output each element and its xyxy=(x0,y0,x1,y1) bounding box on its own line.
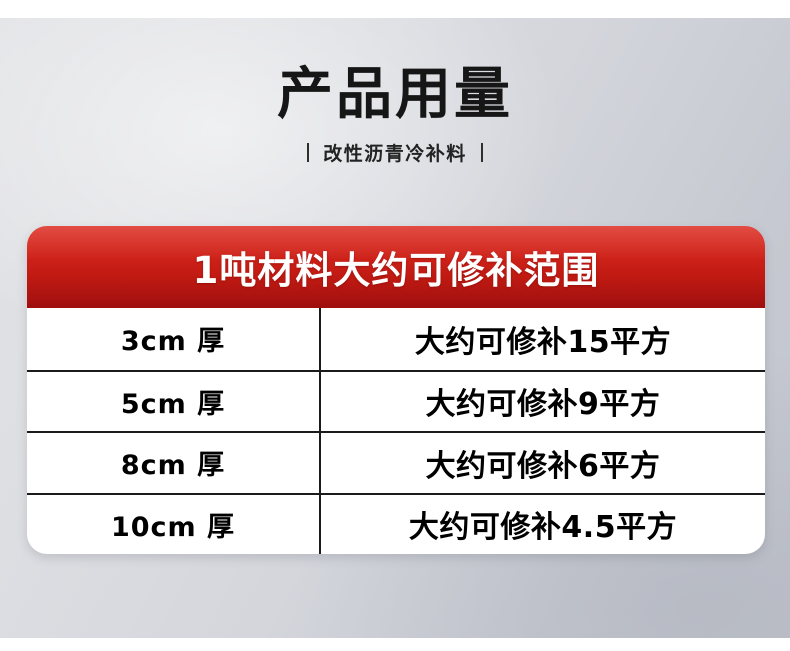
table-row: 10cm 厚 大约可修补4.5平方 xyxy=(27,493,765,555)
usage-banner: 1吨材料大约可修补范围 xyxy=(27,226,765,308)
page-title: 产品用量 xyxy=(0,66,790,125)
table-row: 5cm 厚 大约可修补9平方 xyxy=(27,370,765,432)
cell-thickness: 5cm 厚 xyxy=(27,372,321,432)
cell-thickness: 8cm 厚 xyxy=(27,433,321,493)
cell-area: 大约可修补4.5平方 xyxy=(321,495,765,555)
usage-table: 3cm 厚 大约可修补15平方 5cm 厚 大约可修补9平方 8cm 厚 大约可… xyxy=(27,308,765,554)
divider-bar-left-icon xyxy=(307,143,309,162)
cell-thickness: 10cm 厚 xyxy=(27,495,321,555)
table-row: 3cm 厚 大约可修补15平方 xyxy=(27,308,765,370)
subtitle-row: 改性沥青冷补料 xyxy=(0,139,790,166)
table-row: 8cm 厚 大约可修补6平方 xyxy=(27,431,765,493)
heading-block: 产品用量 改性沥青冷补料 xyxy=(0,66,790,166)
page-subtitle: 改性沥青冷补料 xyxy=(323,139,467,166)
divider-bar-right-icon xyxy=(481,143,483,162)
product-usage-poster: 产品用量 改性沥青冷补料 1吨材料大约可修补范围 3cm 厚 大约可修补15平方… xyxy=(0,0,790,651)
usage-card: 1吨材料大约可修补范围 3cm 厚 大约可修补15平方 5cm 厚 大约可修补9… xyxy=(27,226,765,554)
cell-area: 大约可修补15平方 xyxy=(321,308,765,370)
cell-area: 大约可修补6平方 xyxy=(321,433,765,493)
usage-banner-title: 1吨材料大约可修补范围 xyxy=(193,240,600,294)
cell-thickness: 3cm 厚 xyxy=(27,308,321,370)
cell-area: 大约可修补9平方 xyxy=(321,372,765,432)
